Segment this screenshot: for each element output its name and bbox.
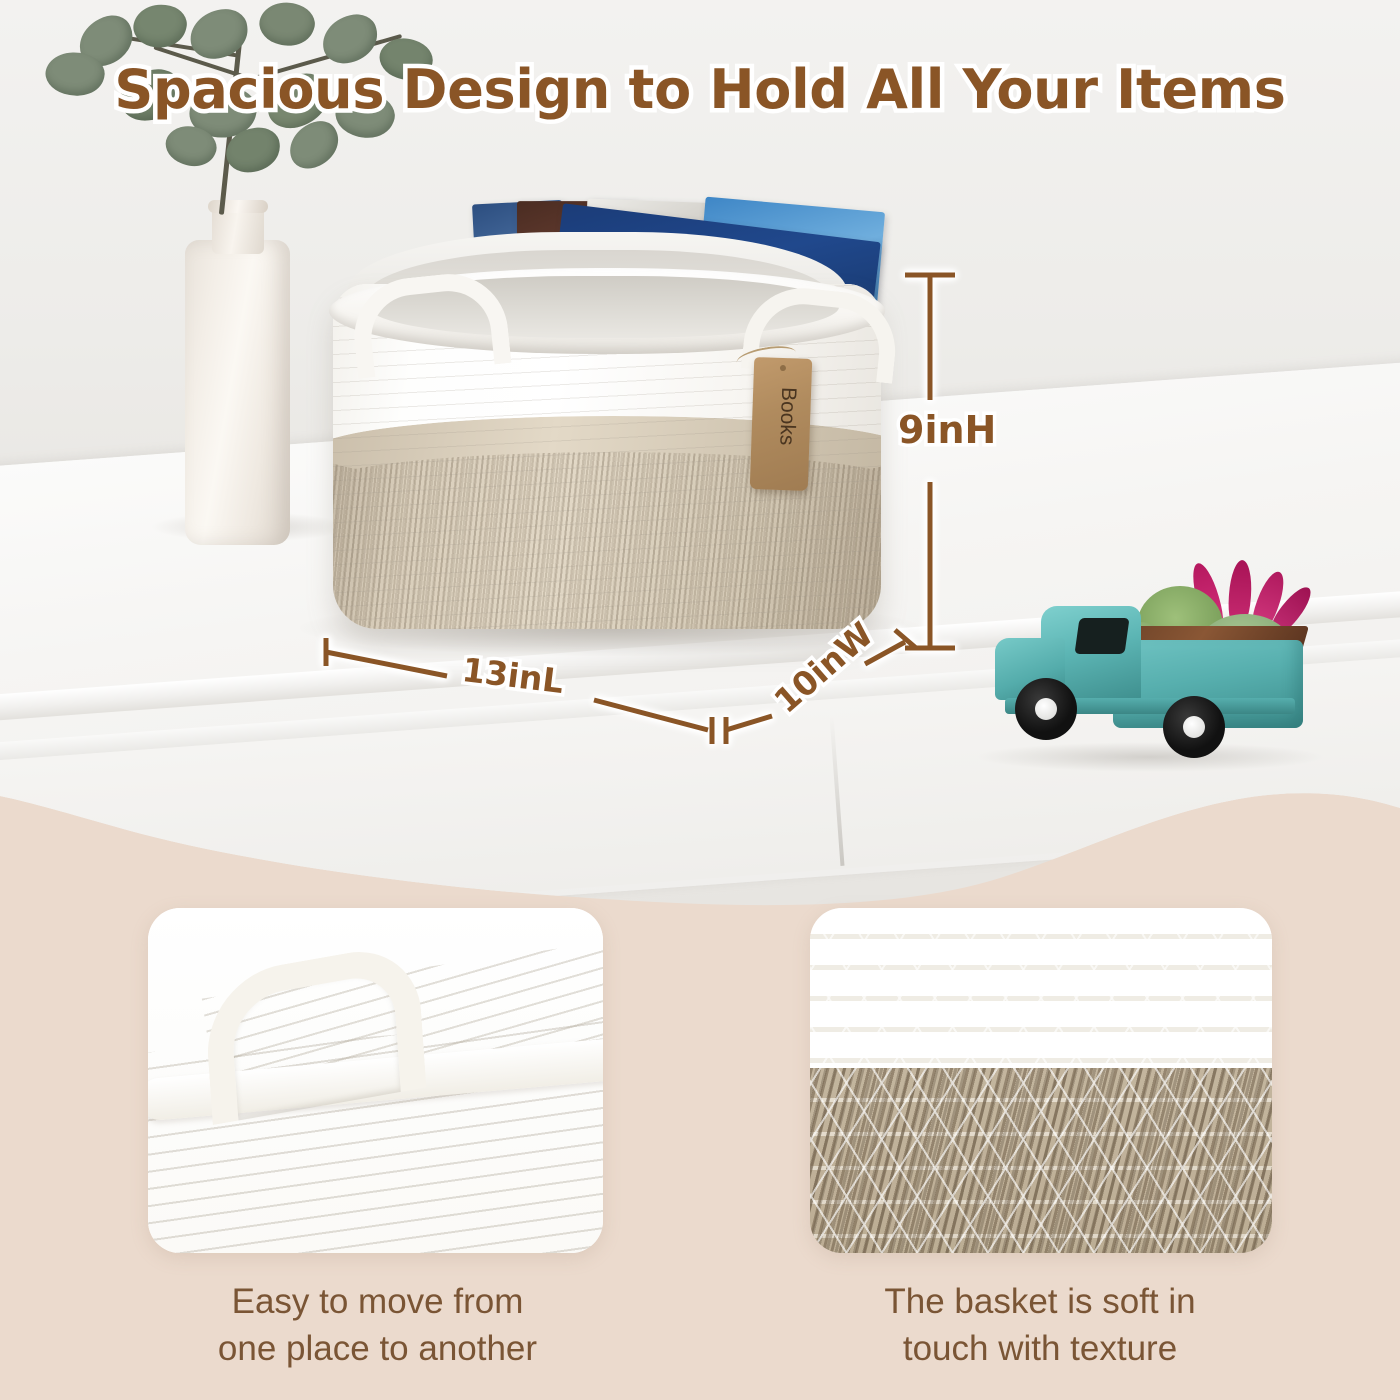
rope-storage-basket: [325, 228, 895, 653]
caption-line-1: Easy to move from: [120, 1278, 635, 1325]
lifestyle-photo-scene: Condé Nast Traveler Books: [0, 0, 1400, 920]
ceramic-bottle-vase: [185, 200, 290, 545]
tag-label-text: Books: [773, 361, 801, 472]
feature-card-easy-to-move: [148, 908, 603, 1253]
caption-line-2: one place to another: [120, 1325, 635, 1372]
texture-net-overlay: [810, 908, 1272, 1253]
truck-window: [1074, 618, 1129, 654]
truck-wheel-front: [1015, 678, 1077, 740]
infographic-canvas: Condé Nast Traveler Books: [0, 0, 1400, 1400]
caption-soft-texture: The basket is soft in touch with texture: [800, 1278, 1280, 1373]
caption-line-1: The basket is soft in: [800, 1278, 1280, 1325]
kraft-paper-tag: Books: [750, 357, 813, 491]
teal-truck-succulent-planter: [985, 560, 1315, 790]
caption-easy-to-move: Easy to move from one place to another: [120, 1278, 635, 1373]
caption-line-2: touch with texture: [800, 1325, 1280, 1372]
feature-card-soft-texture: [810, 908, 1272, 1253]
page-title: Spacious Design to Hold All Your Items: [0, 58, 1400, 121]
truck-wheel-rear: [1163, 696, 1225, 758]
dimension-label-height: 9inH: [898, 408, 996, 452]
